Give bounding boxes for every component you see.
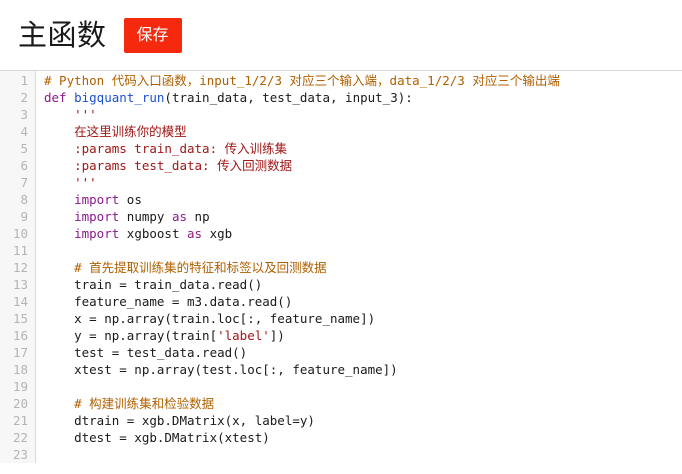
code-token-pln	[44, 209, 74, 224]
code-token-str: 'label'	[217, 328, 270, 343]
line-number: 1	[0, 72, 35, 89]
code-token-pln: y = np.array(train[	[44, 328, 217, 343]
code-line[interactable]	[44, 378, 682, 395]
code-token-pln: xtest = np.array(test.loc[:, feature_nam…	[44, 362, 398, 377]
code-line[interactable]: # 首先提取训练集的特征和标签以及回测数据	[44, 259, 682, 276]
code-token-pln: train = train_data.read()	[44, 277, 262, 292]
line-number: 14	[0, 293, 35, 310]
line-number: 9	[0, 208, 35, 225]
save-button[interactable]: 保存	[124, 18, 182, 53]
line-number: 15	[0, 310, 35, 327]
code-editor-body: 1234567891011121314151617181920212223 # …	[0, 71, 682, 463]
line-number: 12	[0, 259, 35, 276]
line-number: 16	[0, 327, 35, 344]
code-line[interactable]: '''	[44, 174, 682, 191]
code-token-com: # 构建训练集和检验数据	[44, 396, 214, 411]
code-line[interactable]: '''	[44, 106, 682, 123]
code-line[interactable]: # 构建训练集和检验数据	[44, 395, 682, 412]
line-number: 19	[0, 378, 35, 395]
line-number-gutter: 1234567891011121314151617181920212223	[0, 71, 36, 463]
line-number: 2	[0, 89, 35, 106]
code-line[interactable]: def bigquant_run(train_data, test_data, …	[44, 89, 682, 106]
line-number: 7	[0, 174, 35, 191]
code-token-pln: dtrain = xgb.DMatrix(x, label=y)	[44, 413, 315, 428]
code-token-str: :params test_data: 传入回测数据	[44, 158, 292, 173]
code-line[interactable]: dtrain = xgb.DMatrix(x, label=y)	[44, 412, 682, 429]
line-number: 4	[0, 123, 35, 140]
page-title: 主函数	[18, 21, 107, 50]
code-token-pln: ])	[270, 328, 285, 343]
code-line[interactable]: train = train_data.read()	[44, 276, 682, 293]
code-token-pln: test = test_data.read()	[44, 345, 247, 360]
code-line[interactable]: import numpy as np	[44, 208, 682, 225]
line-number: 13	[0, 276, 35, 293]
code-line[interactable]: test = test_data.read()	[44, 344, 682, 361]
code-token-pln	[67, 90, 75, 105]
code-editor[interactable]: 1234567891011121314151617181920212223 # …	[0, 70, 682, 463]
code-token-pln	[44, 192, 74, 207]
code-line[interactable]: feature_name = m3.data.read()	[44, 293, 682, 310]
code-token-kw: import	[74, 226, 119, 241]
line-number: 23	[0, 446, 35, 463]
editor-header: 主函数 保存	[0, 0, 682, 70]
code-token-kw: as	[172, 209, 187, 224]
code-token-pln: (train_data, test_data, input_3):	[164, 90, 412, 105]
code-token-pln: x = np.array(train.loc[:, feature_name])	[44, 311, 375, 326]
code-line[interactable]: import xgboost as xgb	[44, 225, 682, 242]
code-token-pln: dtest = xgb.DMatrix(xtest)	[44, 430, 270, 445]
code-token-str: 在这里训练你的模型	[44, 124, 187, 139]
code-token-kw: import	[74, 209, 119, 224]
code-token-pln: feature_name = m3.data.read()	[44, 294, 292, 309]
code-token-com: # Python 代码入口函数，input_1/2/3 对应三个输入端，data…	[44, 73, 560, 88]
code-line[interactable]: import os	[44, 191, 682, 208]
code-token-kw: def	[44, 90, 67, 105]
line-number: 18	[0, 361, 35, 378]
code-token-pln: numpy	[119, 209, 172, 224]
code-content[interactable]: # Python 代码入口函数，input_1/2/3 对应三个输入端，data…	[36, 71, 682, 463]
line-number: 6	[0, 157, 35, 174]
code-line[interactable]: 在这里训练你的模型	[44, 123, 682, 140]
code-line[interactable]: # Python 代码入口函数，input_1/2/3 对应三个输入端，data…	[44, 72, 682, 89]
code-token-pln	[44, 226, 74, 241]
code-token-pln: xgboost	[119, 226, 187, 241]
code-line[interactable]: x = np.array(train.loc[:, feature_name])	[44, 310, 682, 327]
code-token-str: :params train_data: 传入训练集	[44, 141, 287, 156]
line-number: 21	[0, 412, 35, 429]
code-line[interactable]: y = np.array(train['label'])	[44, 327, 682, 344]
code-token-str: '''	[44, 175, 97, 190]
code-token-str: '''	[44, 107, 97, 122]
line-number: 17	[0, 344, 35, 361]
code-token-fn: bigquant_run	[74, 90, 164, 105]
line-number: 22	[0, 429, 35, 446]
code-token-pln: np	[187, 209, 210, 224]
line-number: 8	[0, 191, 35, 208]
code-token-kw: import	[74, 192, 119, 207]
line-number: 10	[0, 225, 35, 242]
code-token-com: # 首先提取训练集的特征和标签以及回测数据	[44, 260, 327, 275]
line-number: 3	[0, 106, 35, 123]
code-line[interactable]	[44, 446, 682, 463]
code-line[interactable]: xtest = np.array(test.loc[:, feature_nam…	[44, 361, 682, 378]
code-token-pln: xgb	[202, 226, 232, 241]
code-token-pln: os	[119, 192, 142, 207]
code-line[interactable]: :params test_data: 传入回测数据	[44, 157, 682, 174]
code-token-kw: as	[187, 226, 202, 241]
code-line[interactable]: dtest = xgb.DMatrix(xtest)	[44, 429, 682, 446]
line-number: 20	[0, 395, 35, 412]
code-line[interactable]: :params train_data: 传入训练集	[44, 140, 682, 157]
code-line[interactable]	[44, 242, 682, 259]
line-number: 11	[0, 242, 35, 259]
line-number: 5	[0, 140, 35, 157]
